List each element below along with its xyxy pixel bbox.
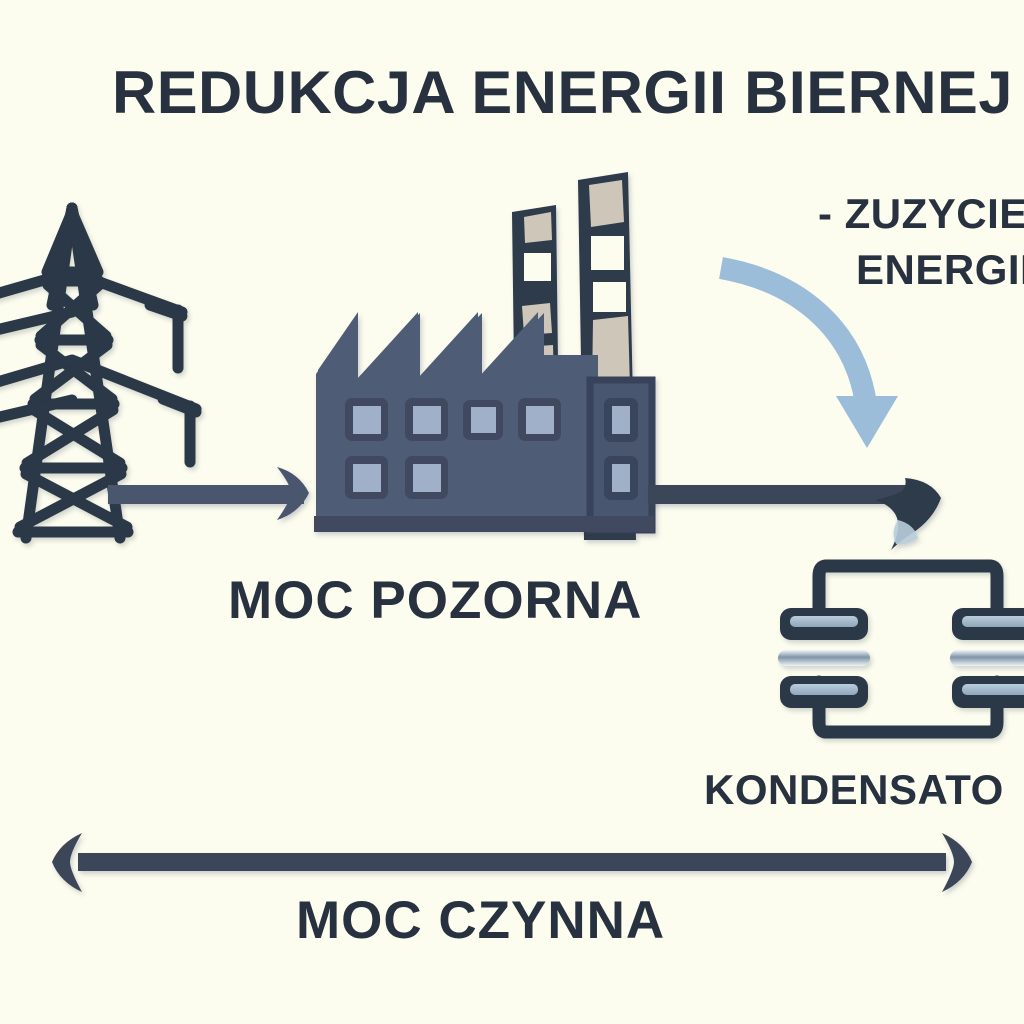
label-capacitor: KONDENSATO: [704, 766, 1004, 814]
curved-down-arrow-icon: [721, 268, 898, 448]
label-apparent-power: MOC POZORNA: [228, 570, 642, 631]
factory-icon: [314, 172, 654, 540]
label-active-power: MOC CZYNNA: [296, 890, 665, 951]
infographic-canvas: REDUKCJA ENERGII BIERNEJ - ZUZYCIE ENERG…: [0, 0, 1024, 1024]
capacitor-right: [950, 608, 1024, 708]
diagram-graphics: [0, 0, 1024, 1024]
double-headed-arrow-icon: [52, 833, 972, 892]
right-arrow-icon: [108, 467, 309, 520]
capacitor-bank-icon: [778, 566, 1024, 732]
reduction-note-line-2: ENERGII: [856, 246, 1024, 294]
capacitor-left: [778, 608, 870, 708]
page-title: REDUKCJA ENERGII BIERNEJ: [112, 58, 1013, 127]
right-arrow-hook-icon: [648, 478, 941, 550]
reduction-note-line-1: - ZUZYCIE: [818, 190, 1024, 238]
